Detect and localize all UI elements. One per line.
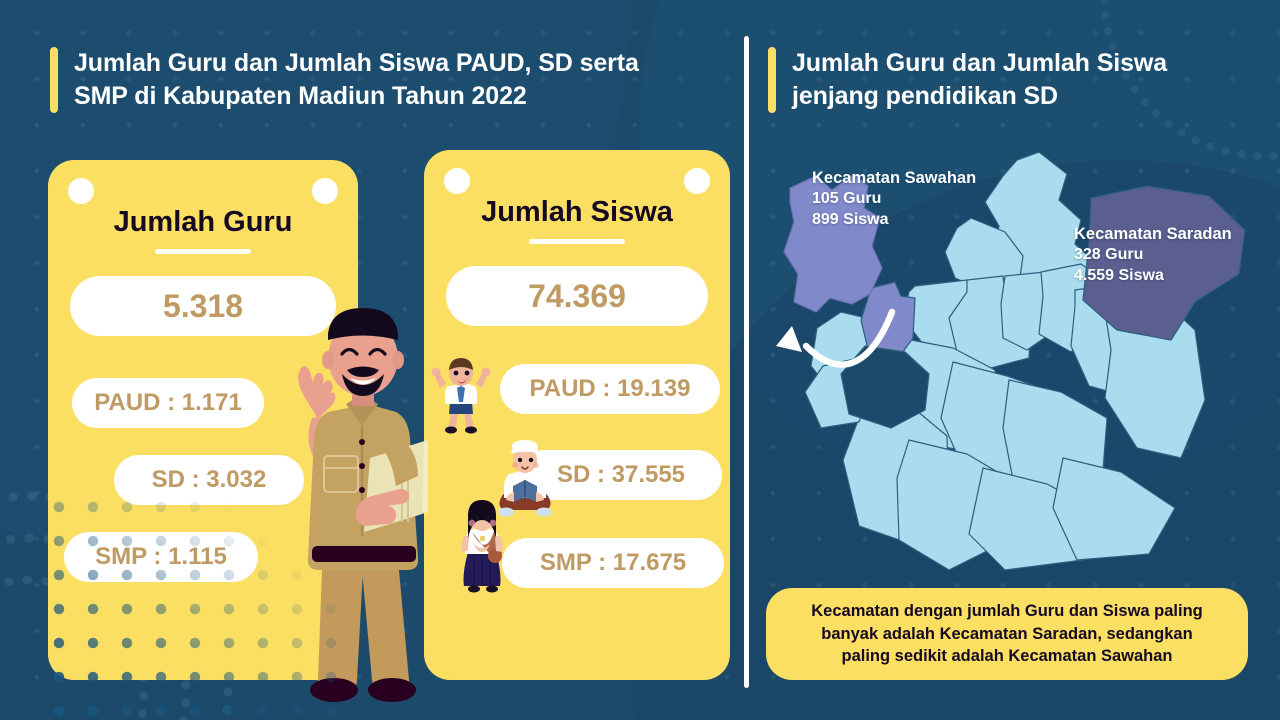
left-title-text: Jumlah Guru dan Jumlah Siswa PAUD, SD se… xyxy=(74,47,639,113)
map-label-saradan: Kecamatan Saradan 328 Guru 4.559 Siswa xyxy=(1074,224,1232,287)
right-title-line-2: jenjang pendidikan SD xyxy=(792,80,1167,113)
left-title-line-2: SMP di Kabupaten Madiun Tahun 2022 xyxy=(74,80,639,113)
left-panel-title: Jumlah Guru dan Jumlah Siswa PAUD, SD se… xyxy=(50,47,710,113)
card-siswa-total: 74.369 xyxy=(446,266,708,326)
card-siswa-title: Jumlah Siswa xyxy=(424,196,730,229)
saradan-siswa: 4.559 Siswa xyxy=(1074,266,1232,287)
card-guru-row-smp: SMP : 1.115 xyxy=(64,532,258,582)
infographic-canvas: Jumlah Guru dan Jumlah Siswa PAUD, SD se… xyxy=(0,0,1280,720)
card-notch-right-icon xyxy=(684,168,710,194)
callout-line-1: Kecamatan dengan jumlah Guru dan Siswa p… xyxy=(811,600,1203,623)
card-guru-underline xyxy=(155,249,251,254)
sawahan-guru: 105 Guru xyxy=(812,189,976,210)
right-title-line-1: Jumlah Guru dan Jumlah Siswa xyxy=(792,47,1167,80)
sawahan-name: Kecamatan Sawahan xyxy=(812,168,976,189)
district-light-15 xyxy=(1053,458,1175,560)
right-panel-title: Jumlah Guru dan Jumlah Siswa jenjang pen… xyxy=(768,47,1238,113)
title-accent-bar xyxy=(50,47,58,113)
title-accent-bar xyxy=(768,47,776,113)
card-notch-left-icon xyxy=(68,178,94,204)
saradan-guru: 328 Guru xyxy=(1074,245,1232,266)
card-notch-left-icon xyxy=(444,168,470,194)
left-title-line-1: Jumlah Guru dan Jumlah Siswa PAUD, SD se… xyxy=(74,47,639,80)
card-guru-row-paud: PAUD : 1.171 xyxy=(72,378,264,428)
card-siswa-row-paud: PAUD : 19.139 xyxy=(500,364,720,414)
card-siswa-underline xyxy=(529,239,625,244)
right-title-text: Jumlah Guru dan Jumlah Siswa jenjang pen… xyxy=(792,47,1167,113)
card-guru-title: Jumlah Guru xyxy=(48,206,358,239)
map-kabupaten-madiun: Kecamatan Sawahan 105 Guru 899 Siswa Kec… xyxy=(752,140,1264,580)
saradan-name: Kecamatan Saradan xyxy=(1074,224,1232,245)
student-girl-illustration xyxy=(452,500,512,596)
student-cheering-illustration xyxy=(430,358,492,434)
card-notch-right-icon xyxy=(312,178,338,204)
callout-line-3: paling sedikit adalah Kecamatan Sawahan xyxy=(811,645,1203,668)
sawahan-siswa: 899 Siswa xyxy=(812,210,976,231)
card-siswa-row-smp: SMP : 17.675 xyxy=(502,538,724,588)
map-summary-callout: Kecamatan dengan jumlah Guru dan Siswa p… xyxy=(766,588,1248,680)
callout-text: Kecamatan dengan jumlah Guru dan Siswa p… xyxy=(795,600,1219,668)
callout-line-2: banyak adalah Kecamatan Saradan, sedangk… xyxy=(811,623,1203,646)
panel-divider xyxy=(744,36,749,688)
map-label-sawahan: Kecamatan Sawahan 105 Guru 899 Siswa xyxy=(812,168,976,231)
